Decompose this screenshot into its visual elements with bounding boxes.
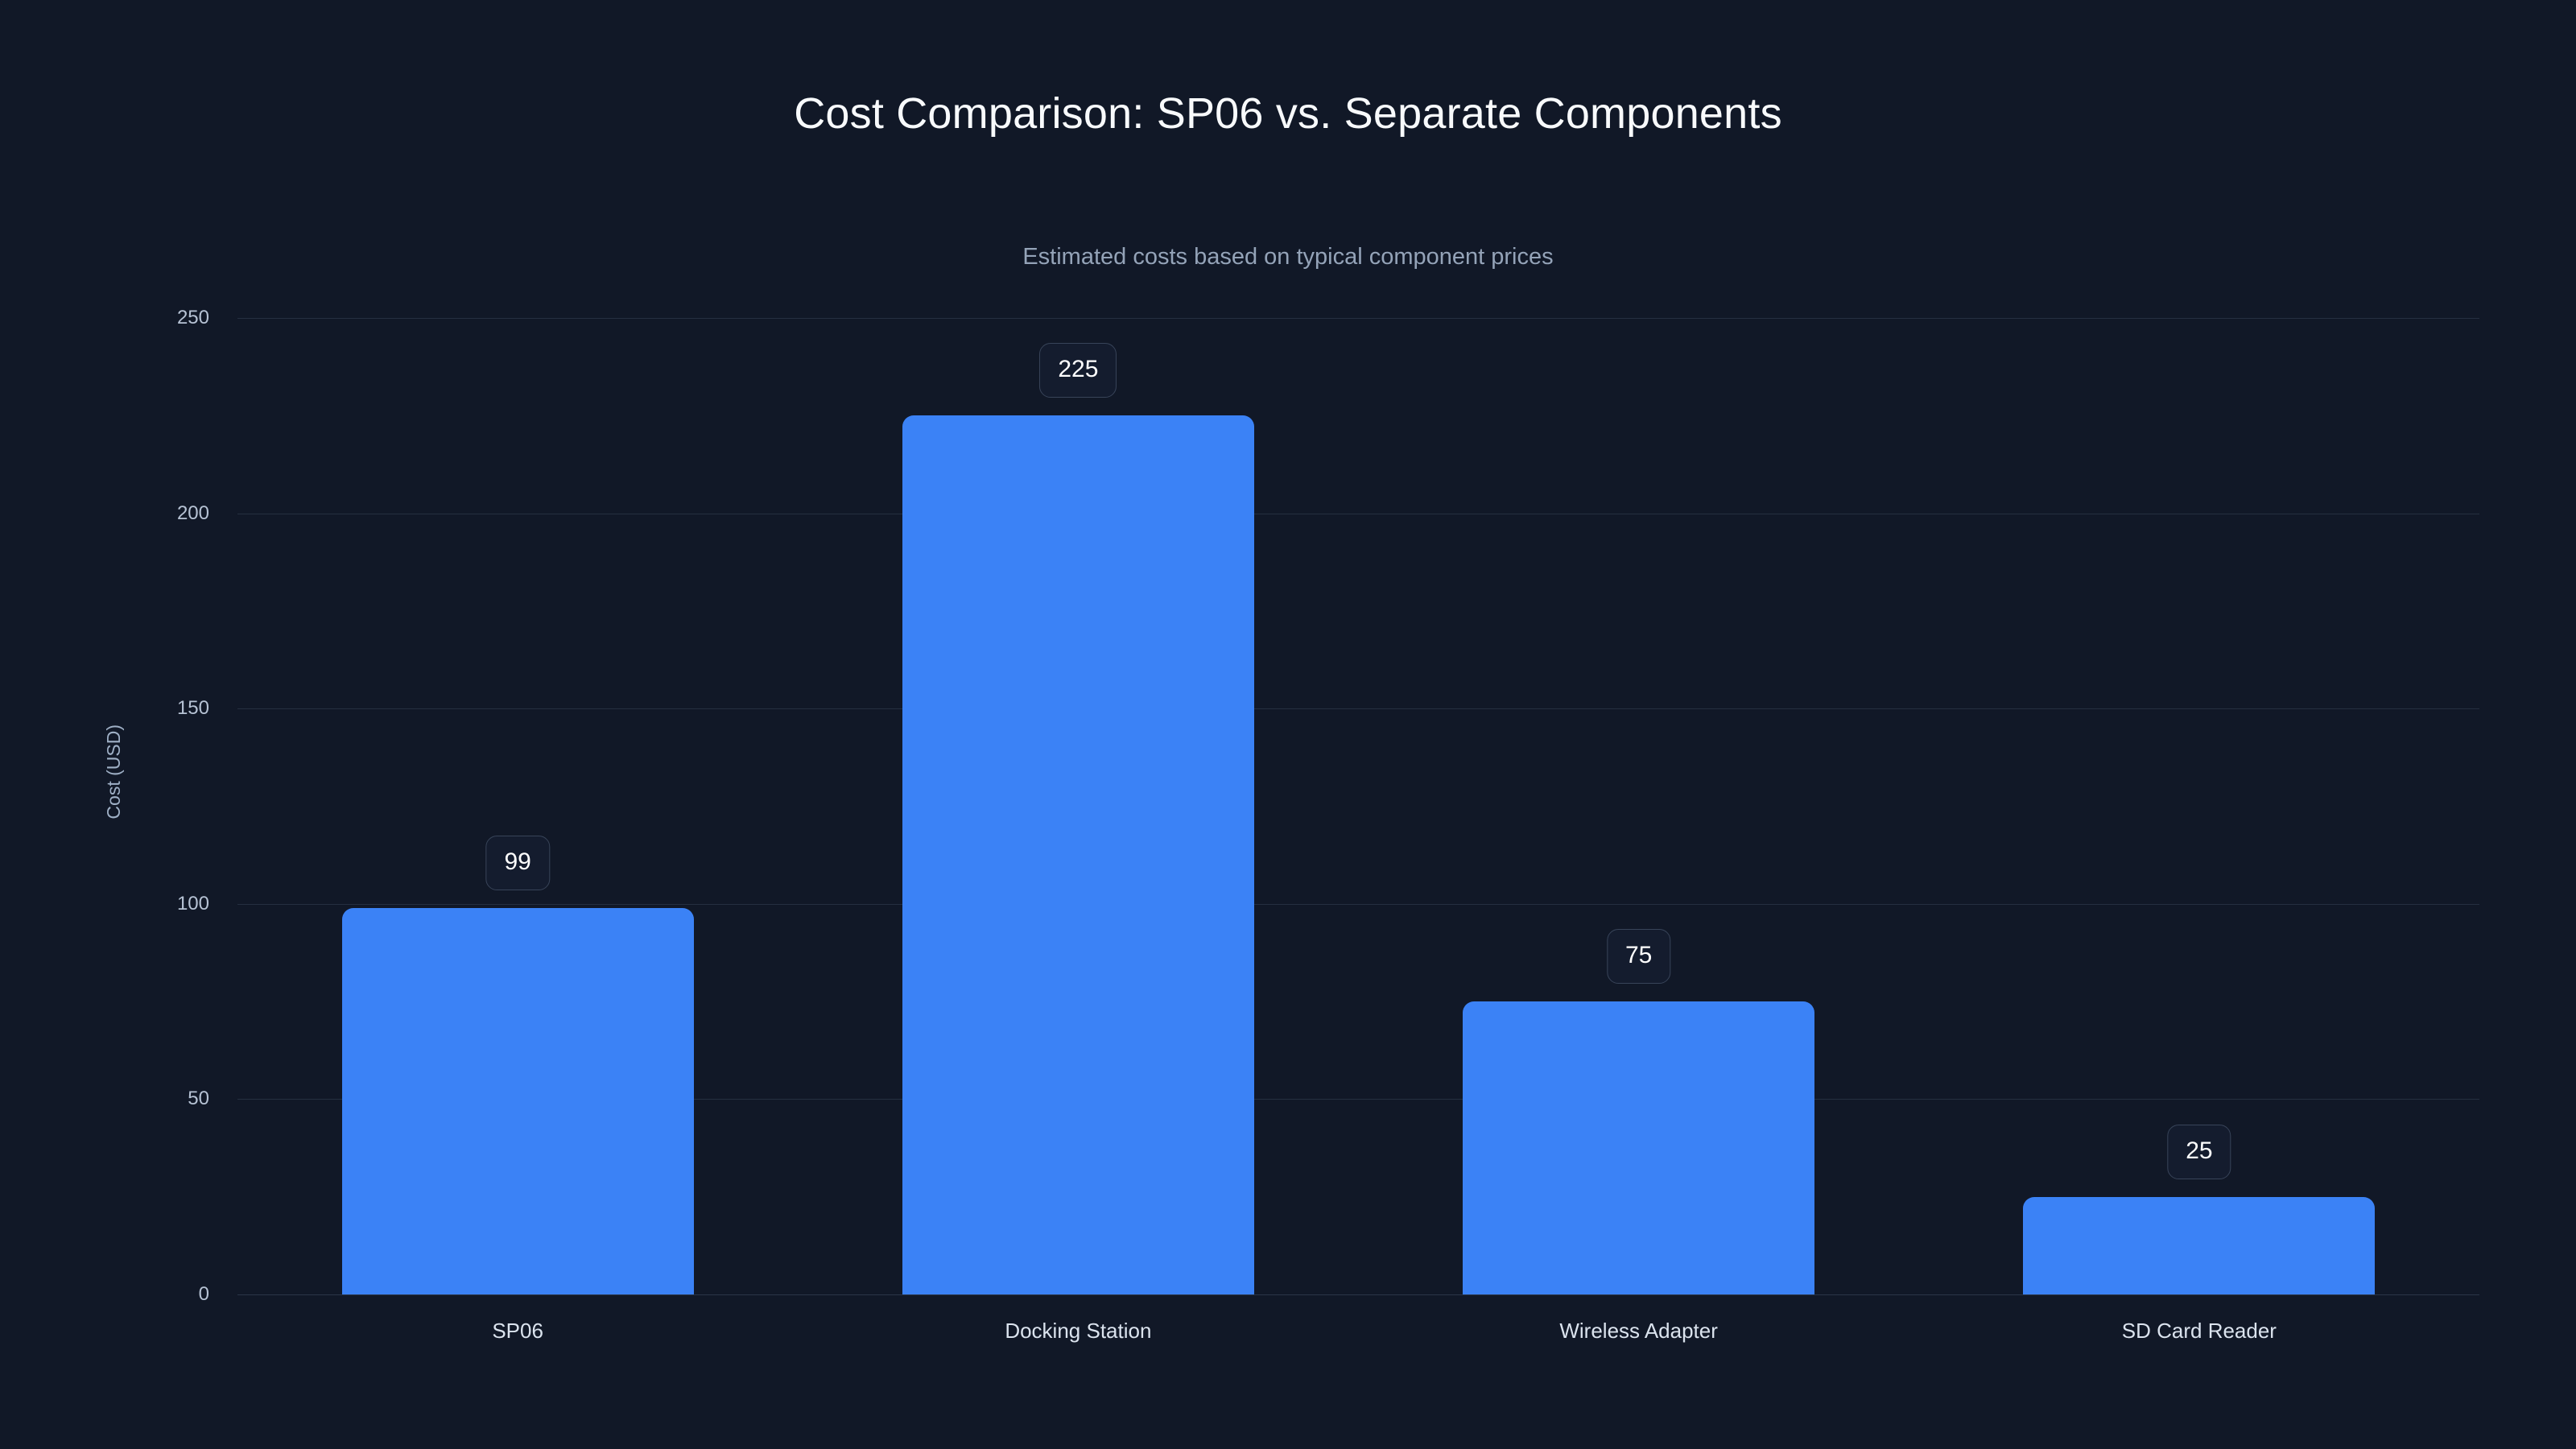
y-axis-tick-label: 0: [113, 1283, 209, 1306]
x-axis-tick-label: Wireless Adapter: [1559, 1319, 1718, 1344]
y-axis-title: Cost (USD): [103, 724, 125, 819]
gridline: [237, 1294, 2479, 1295]
bar-value-label: 25: [2167, 1125, 2231, 1179]
bar-value-label: 99: [485, 836, 549, 890]
y-axis-tick-label: 250: [113, 307, 209, 329]
plot-area: 992257525: [237, 318, 2479, 1294]
bar-group[interactable]: 25: [2023, 318, 2375, 1294]
bar-value-label: 75: [1607, 929, 1670, 984]
bar-group[interactable]: 99: [342, 318, 694, 1294]
bar[interactable]: [1463, 1001, 1814, 1294]
x-axis-tick-label: SP06: [492, 1319, 543, 1344]
bar-value-label: 225: [1039, 343, 1117, 398]
x-axis-tick-label: SD Card Reader: [2122, 1319, 2277, 1344]
bars-layer: 992257525: [237, 318, 2479, 1294]
y-axis-tick-label: 100: [113, 893, 209, 915]
y-axis-tick-label: 150: [113, 697, 209, 720]
y-axis-tick-label: 200: [113, 502, 209, 525]
bar-group[interactable]: 75: [1463, 318, 1814, 1294]
y-axis-tick-label: 50: [113, 1088, 209, 1110]
x-axis-tick-label: Docking Station: [1005, 1319, 1151, 1344]
bar[interactable]: [342, 908, 694, 1294]
chart-subtitle: Estimated costs based on typical compone…: [0, 244, 2576, 270]
bar[interactable]: [2023, 1197, 2375, 1294]
x-axis-labels: SP06Docking StationWireless AdapterSD Ca…: [237, 1319, 2479, 1367]
bar-chart: Cost Comparison: SP06 vs. Separate Compo…: [0, 0, 2576, 1449]
bar[interactable]: [902, 415, 1254, 1294]
bar-group[interactable]: 225: [902, 318, 1254, 1294]
chart-title: Cost Comparison: SP06 vs. Separate Compo…: [0, 90, 2576, 138]
